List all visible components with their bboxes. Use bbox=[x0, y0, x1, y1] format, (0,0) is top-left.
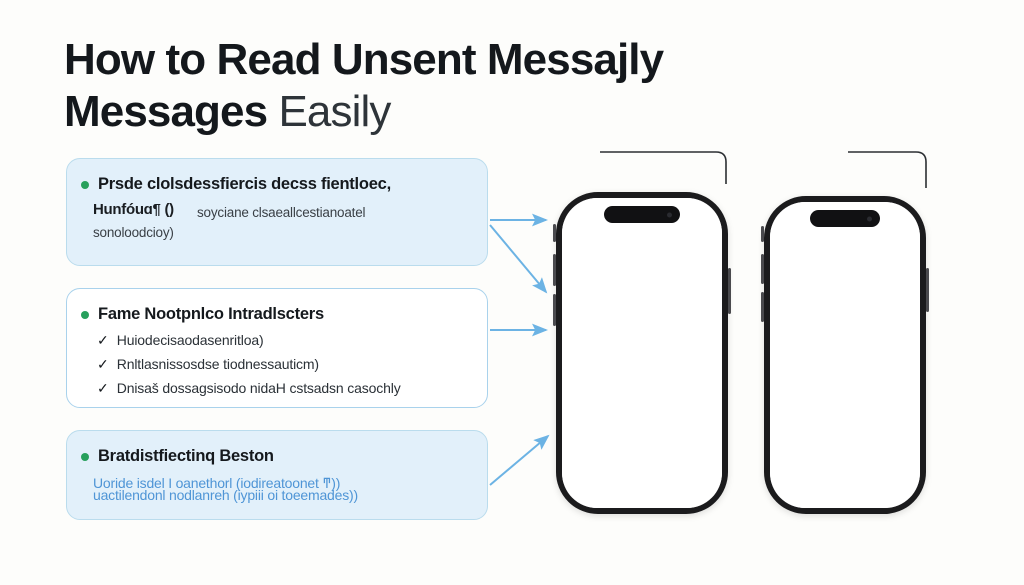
check-item-label: Rnltlasnissosdse tiodnessauticm) bbox=[117, 355, 319, 374]
volume-up-button-icon[interactable] bbox=[553, 254, 556, 286]
card-3-body-line-2: uactilendonl nodlanreh (iypiii oi toeema… bbox=[93, 487, 358, 503]
check-item-label: Huiodecisaodasenritloa) bbox=[117, 331, 264, 350]
card-1-heading: Prsde clolsdessfiercis decss fientloec, bbox=[98, 173, 391, 195]
card-3-header: Bratdistfiectinq Beston bbox=[67, 431, 487, 467]
check-item-label: Dnisaš dossagsisodo nidaH cstsadsn casoc… bbox=[117, 379, 401, 398]
dynamic-island-icon bbox=[604, 206, 680, 223]
card-2-check-list: ✓ Huiodecisaodasenritloa) ✓ Rnltlasnisso… bbox=[67, 325, 487, 398]
check-icon: ✓ bbox=[97, 355, 109, 374]
check-icon: ✓ bbox=[97, 331, 109, 350]
bullet-dot-icon bbox=[81, 181, 89, 189]
iphone-mockup-left[interactable] bbox=[556, 192, 728, 514]
power-button-icon[interactable] bbox=[728, 268, 731, 314]
card-1-body-tail: soyciane clsaeallcestianoatel bbox=[197, 205, 365, 220]
front-camera-icon bbox=[867, 216, 872, 221]
arrow-card3-to-phone bbox=[490, 436, 548, 485]
phone-screen-right[interactable] bbox=[770, 202, 920, 508]
volume-up-button-icon[interactable] bbox=[761, 254, 764, 284]
bracket-line-left bbox=[600, 152, 726, 184]
card-3-heading: Bratdistfiectinq Beston bbox=[98, 445, 274, 467]
bracket-line-right bbox=[848, 152, 926, 188]
card-3-body: Uoride isdel I oanethorl (iodireatoonet … bbox=[67, 471, 487, 513]
list-item: ✓ Rnltlasnissosdse tiodnessauticm) bbox=[97, 355, 471, 374]
list-item: ✓ Huiodecisaodasenritloa) bbox=[97, 331, 471, 350]
check-icon: ✓ bbox=[97, 379, 109, 398]
list-item: ✓ Dnisaš dossagsisodo nidaH cstsadsn cas… bbox=[97, 379, 471, 398]
volume-down-button-icon[interactable] bbox=[553, 294, 556, 326]
silence-switch-icon[interactable] bbox=[553, 224, 556, 242]
info-card-2[interactable]: Fame Nootpnlco Intradlscters ✓ Huiodecis… bbox=[66, 288, 488, 408]
silence-switch-icon[interactable] bbox=[761, 226, 764, 242]
info-card-3[interactable]: Bratdistfiectinq Beston Uoride isdel I o… bbox=[66, 430, 488, 520]
card-2-heading: Fame Nootpnlco Intradlscters bbox=[98, 303, 324, 325]
info-card-1[interactable]: Prsde clolsdessfiercis decss fientloec, … bbox=[66, 158, 488, 266]
arrow-card1-to-phone-diagonal bbox=[490, 225, 546, 292]
bullet-dot-icon bbox=[81, 311, 89, 319]
card-1-body-tail-2: sonoloodcioy) bbox=[93, 225, 174, 240]
power-button-icon[interactable] bbox=[926, 268, 929, 312]
iphone-mockup-right[interactable] bbox=[764, 196, 926, 514]
bullet-dot-icon bbox=[81, 453, 89, 461]
card-2-header: Fame Nootpnlco Intradlscters bbox=[67, 289, 487, 325]
cards-column: Prsde clolsdessfiercis decss fientloec, … bbox=[66, 0, 488, 585]
dynamic-island-icon bbox=[810, 210, 880, 227]
phone-screen-left[interactable] bbox=[562, 198, 722, 508]
card-1-body: Hunfóuɑ¶ () soyciane clsaeallcestianoate… bbox=[67, 195, 487, 247]
card-1-body-lead: Hunfóuɑ¶ () bbox=[93, 201, 174, 218]
volume-down-button-icon[interactable] bbox=[761, 292, 764, 322]
front-camera-icon bbox=[667, 212, 672, 217]
card-1-header: Prsde clolsdessfiercis decss fientloec, bbox=[67, 159, 487, 195]
